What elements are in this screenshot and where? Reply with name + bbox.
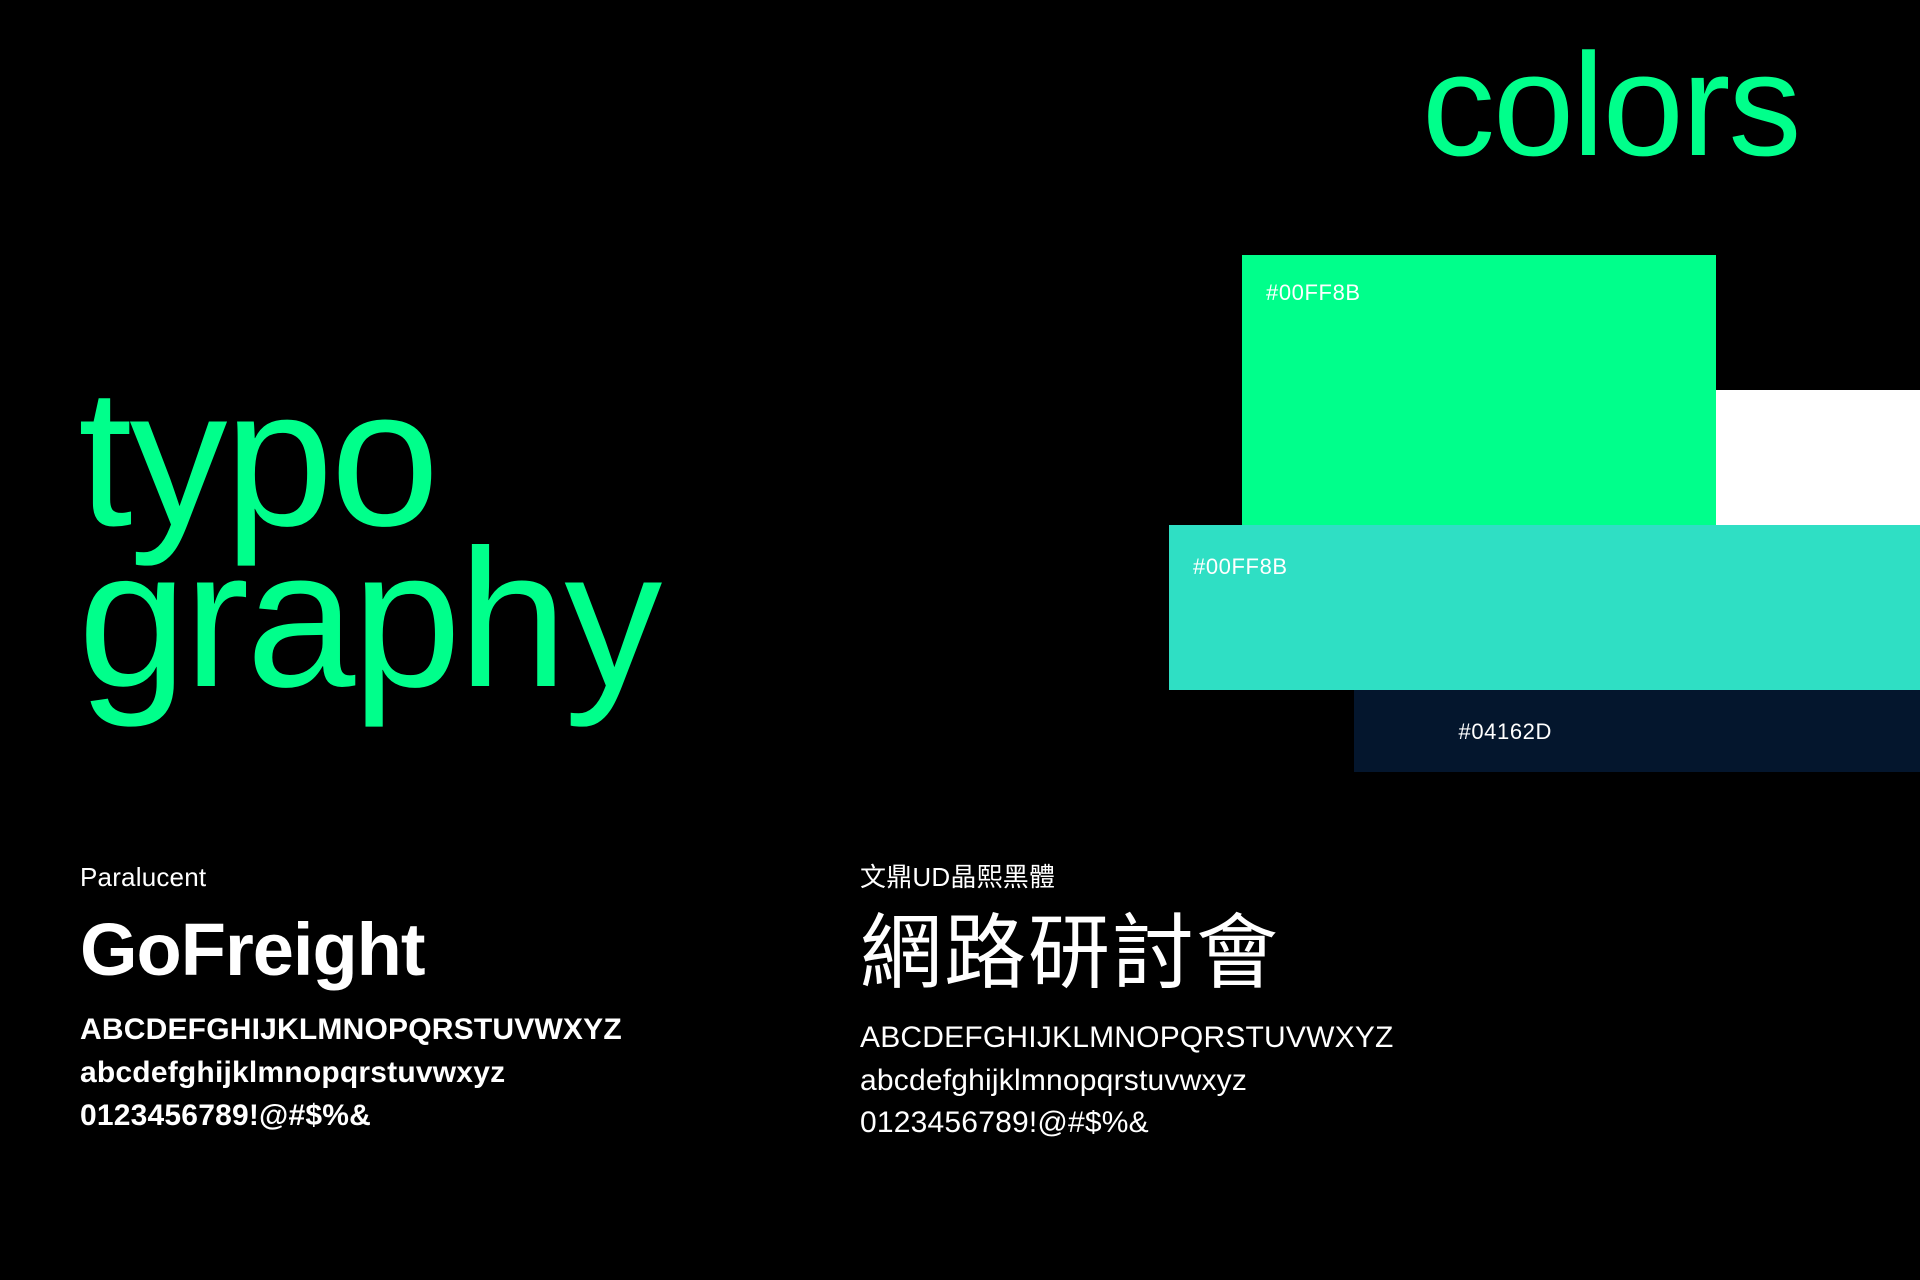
color-swatch-teal: #00FF8B [1169, 525, 1920, 690]
font-sample-word: 網路研討會 [860, 915, 1394, 993]
color-swatch-green: #00FF8B [1242, 255, 1716, 525]
font-name-label: 文鼎UD晶熙黑體 [860, 862, 1394, 893]
brand-style-guide-slide: colors #FFFFFF #04162D #00FF8B #00FF8B t… [0, 0, 1920, 1280]
colors-headline: colors [1422, 32, 1799, 178]
glyph-row-lowercase: abcdefghijklmnopqrstuvwxyz [860, 1060, 1394, 1103]
font-glyph-set: ABCDEFGHIJKLMNOPQRSTUVWXYZ abcdefghijklm… [80, 1009, 622, 1137]
glyph-row-uppercase: ABCDEFGHIJKLMNOPQRSTUVWXYZ [860, 1017, 1394, 1060]
glyph-row-uppercase: ABCDEFGHIJKLMNOPQRSTUVWXYZ [80, 1009, 622, 1052]
font-specimen-paralucent: Paralucent GoFreight ABCDEFGHIJKLMNOPQRS… [80, 862, 622, 1137]
font-specimen-cjk: 文鼎UD晶熙黑體 網路研討會 ABCDEFGHIJKLMNOPQRSTUVWXY… [860, 862, 1394, 1145]
font-sample-word: GoFreight [80, 915, 622, 985]
typography-headline: typo graphy [78, 378, 659, 699]
glyph-row-numerals: 0123456789!@#$%& [860, 1102, 1394, 1145]
color-swatch-green-label: #00FF8B [1266, 280, 1361, 306]
font-glyph-set: ABCDEFGHIJKLMNOPQRSTUVWXYZ abcdefghijklm… [860, 1017, 1394, 1145]
color-swatch-navy-label: #04162D [1459, 719, 1553, 745]
color-swatch-navy: #04162D [1354, 690, 1920, 772]
font-name-label: Paralucent [80, 862, 622, 893]
color-swatch-teal-label: #00FF8B [1193, 554, 1288, 580]
glyph-row-lowercase: abcdefghijklmnopqrstuvwxyz [80, 1052, 622, 1095]
typography-headline-line-2: graphy [78, 539, 659, 700]
glyph-row-numerals: 0123456789!@#$%& [80, 1095, 622, 1138]
